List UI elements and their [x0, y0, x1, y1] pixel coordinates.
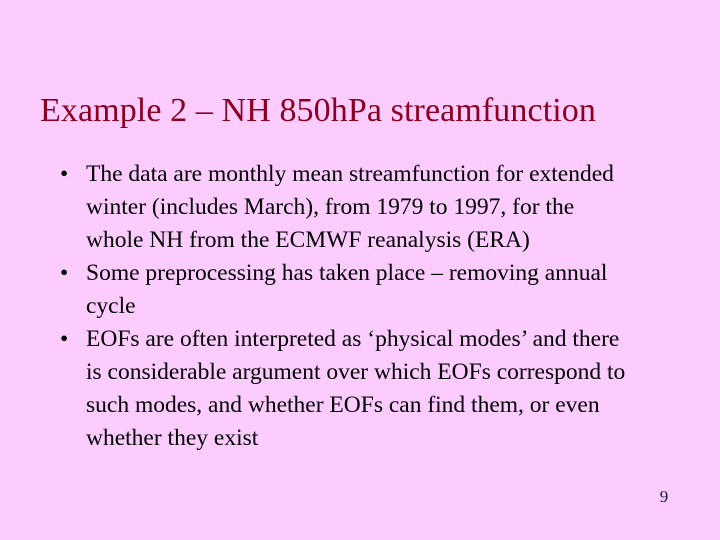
page-title: Example 2 – NH 850hPa streamfunction [40, 91, 700, 131]
list-item-text: The data are monthly mean streamfunction… [86, 158, 636, 257]
bullet-point-icon: • [60, 323, 78, 356]
slide-canvas: Example 2 – NH 850hPa streamfunction • T… [0, 0, 720, 540]
list-item: • EOFs are often interpreted as ‘physica… [56, 323, 636, 455]
list-item: • The data are monthly mean streamfuncti… [56, 158, 636, 257]
bullet-point-icon: • [60, 257, 78, 290]
bullet-list: • The data are monthly mean streamfuncti… [56, 158, 636, 455]
list-item-text: EOFs are often interpreted as ‘physical … [86, 323, 636, 455]
list-item-text: Some preprocessing has taken place – rem… [86, 257, 636, 323]
page-number: 9 [644, 486, 684, 508]
list-item: • Some preprocessing has taken place – r… [56, 257, 636, 323]
bullet-point-icon: • [60, 158, 78, 191]
